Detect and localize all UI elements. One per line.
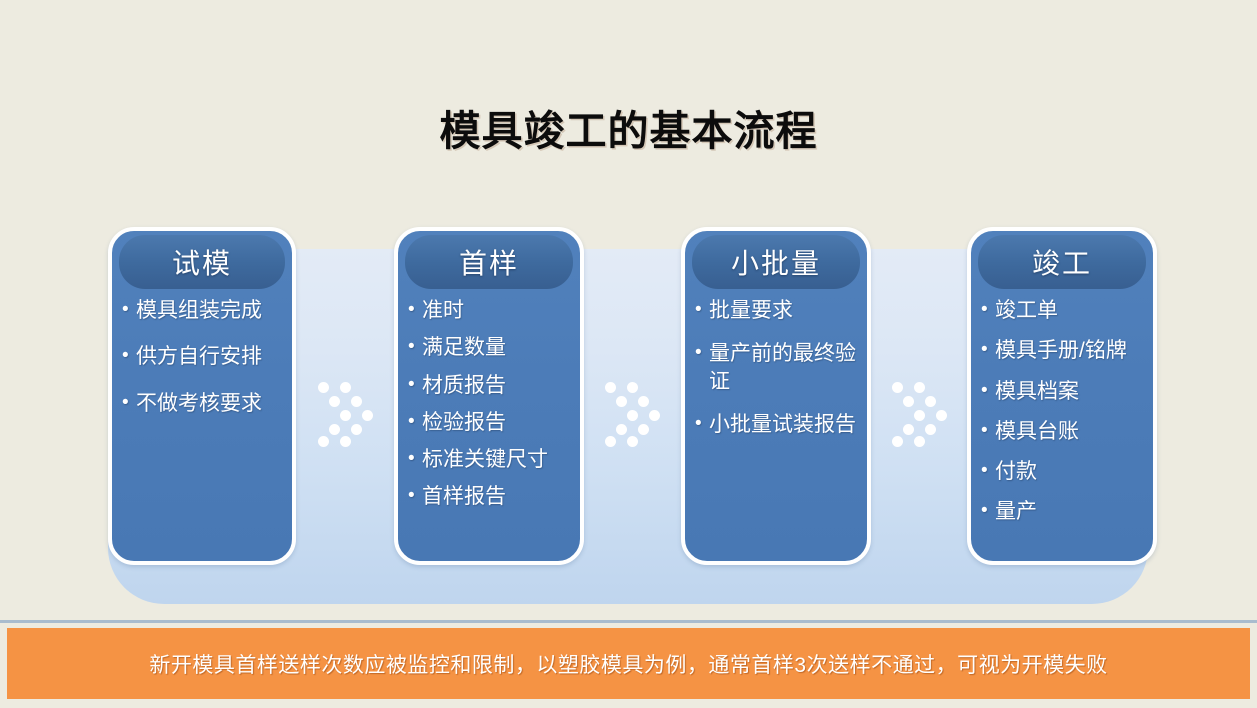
list-item: • 模具组装完成	[122, 297, 286, 324]
list-item-label: 竣工单	[995, 297, 1147, 324]
stage-header-label: 首样	[459, 242, 519, 282]
stage-bullet-list: • 批量要求 • 量产前的最终验证 • 小批量试装报告	[685, 297, 867, 561]
list-item: • 批量要求	[695, 297, 861, 324]
list-item-label: 满足数量	[422, 334, 574, 361]
stage-card-first-article[interactable]: 首样 • 准时 • 满足数量 • 材质报告 • 检验报告 • 标准关键尺寸 • …	[394, 227, 584, 565]
list-item-label: 量产	[995, 498, 1147, 525]
list-item-label: 准时	[422, 297, 574, 324]
list-item: • 模具档案	[981, 378, 1147, 405]
bullet-glyph-icon: •	[408, 297, 422, 323]
list-item: • 模具台账	[981, 418, 1147, 445]
list-item: • 模具手册/铭牌	[981, 337, 1147, 364]
list-item-label: 模具手册/铭牌	[995, 337, 1147, 364]
dot-arrow-right-icon	[312, 378, 378, 442]
bullet-glyph-icon: •	[122, 297, 136, 323]
list-item: • 标准关键尺寸	[408, 446, 574, 473]
list-item-label: 量产前的最终验证	[709, 340, 861, 395]
list-item-label: 批量要求	[709, 297, 861, 324]
list-item: • 材质报告	[408, 372, 574, 399]
dot-arrow-right-icon	[599, 378, 665, 442]
list-item-label: 付款	[995, 458, 1147, 485]
bullet-glyph-icon: •	[981, 378, 995, 404]
bullet-glyph-icon: •	[981, 418, 995, 444]
bullet-glyph-icon: •	[408, 483, 422, 509]
bullet-glyph-icon: •	[981, 498, 995, 524]
footer-note-banner: 新开模具首样送样次数应被监控和限制，以塑胶模具为例，通常首样3次送样不通过，可视…	[7, 628, 1250, 699]
list-item: • 小批量试装报告	[695, 411, 861, 438]
list-item: • 付款	[981, 458, 1147, 485]
bullet-glyph-icon: •	[981, 297, 995, 323]
stage-header: 试模	[119, 235, 285, 289]
bullet-glyph-icon: •	[695, 411, 709, 437]
list-item: • 供方自行安排	[122, 343, 286, 370]
list-item: • 竣工单	[981, 297, 1147, 324]
bullet-glyph-icon: •	[408, 446, 422, 472]
stage-header: 小批量	[692, 235, 860, 289]
bullet-glyph-icon: •	[122, 390, 136, 416]
stage-card-small-batch[interactable]: 小批量 • 批量要求 • 量产前的最终验证 • 小批量试装报告	[681, 227, 871, 565]
footer-divider	[0, 620, 1257, 623]
list-item-label: 供方自行安排	[136, 343, 286, 370]
bullet-glyph-icon: •	[981, 337, 995, 363]
bullet-glyph-icon: •	[695, 340, 709, 366]
list-item-label: 模具台账	[995, 418, 1147, 445]
footer-note-text: 新开模具首样送样次数应被监控和限制，以塑胶模具为例，通常首样3次送样不通过，可视…	[149, 649, 1107, 679]
list-item: • 检验报告	[408, 409, 574, 436]
stage-card-trial-mold[interactable]: 试模 • 模具组装完成 • 供方自行安排 • 不做考核要求	[108, 227, 296, 565]
dot-arrow-right-icon	[886, 378, 952, 442]
stage-bullet-list: • 模具组装完成 • 供方自行安排 • 不做考核要求	[112, 297, 292, 561]
list-item: • 满足数量	[408, 334, 574, 361]
list-item-label: 不做考核要求	[136, 390, 286, 417]
list-item-label: 标准关键尺寸	[422, 446, 574, 473]
stage-card-completion[interactable]: 竣工 • 竣工单 • 模具手册/铭牌 • 模具档案 • 模具台账 • 付款 • …	[967, 227, 1157, 565]
list-item: • 不做考核要求	[122, 390, 286, 417]
stage-header: 竣工	[978, 235, 1146, 289]
stage-header-label: 小批量	[731, 242, 821, 282]
list-item-label: 模具档案	[995, 378, 1147, 405]
list-item: • 准时	[408, 297, 574, 324]
page-title: 模具竣工的基本流程	[0, 97, 1257, 157]
stage-bullet-list: • 竣工单 • 模具手册/铭牌 • 模具档案 • 模具台账 • 付款 • 量产	[971, 297, 1153, 561]
stage-header: 首样	[405, 235, 573, 289]
list-item-label: 模具组装完成	[136, 297, 286, 324]
list-item: • 量产前的最终验证	[695, 340, 861, 395]
list-item-label: 检验报告	[422, 409, 574, 436]
stage-header-label: 竣工	[1032, 242, 1092, 282]
stage-header-label: 试模	[172, 242, 232, 282]
bullet-glyph-icon: •	[122, 343, 136, 369]
bullet-glyph-icon: •	[981, 458, 995, 484]
list-item-label: 小批量试装报告	[709, 411, 861, 438]
list-item: • 量产	[981, 498, 1147, 525]
list-item: • 首样报告	[408, 483, 574, 510]
stage-bullet-list: • 准时 • 满足数量 • 材质报告 • 检验报告 • 标准关键尺寸 • 首样报…	[398, 297, 580, 561]
list-item-label: 首样报告	[422, 483, 574, 510]
bullet-glyph-icon: •	[408, 334, 422, 360]
list-item-label: 材质报告	[422, 372, 574, 399]
bullet-glyph-icon: •	[408, 409, 422, 435]
bullet-glyph-icon: •	[695, 297, 709, 323]
bullet-glyph-icon: •	[408, 372, 422, 398]
